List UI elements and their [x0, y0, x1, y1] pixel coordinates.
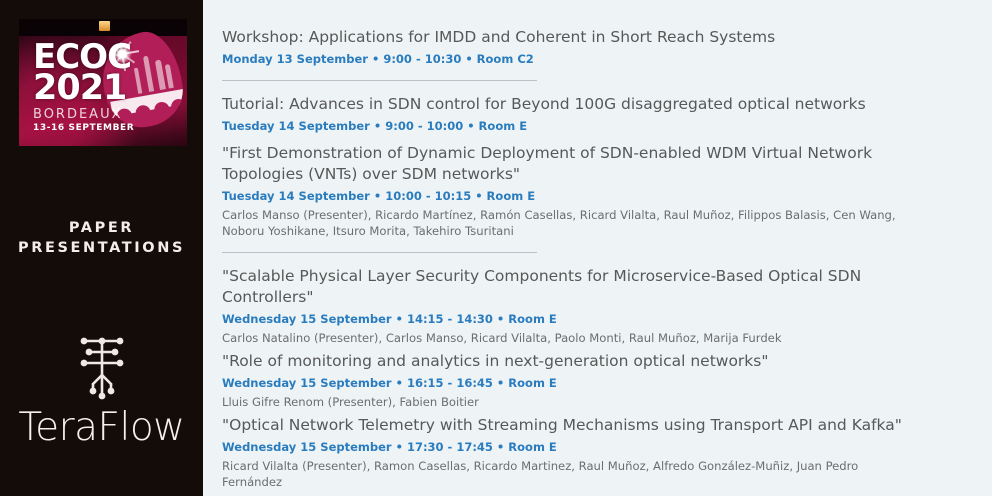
main-content: Workshop: Applications for IMDD and Cohe…: [203, 0, 992, 496]
entry-schedule: Tuesday 14 September • 10:00 - 10:15 • R…: [222, 188, 992, 204]
entry-schedule: Wednesday 15 September • 14:15 - 14:30 •…: [222, 311, 992, 327]
spire-shape: [155, 59, 166, 90]
entry-schedule: Wednesday 15 September • 17:30 - 17:45 •…: [222, 439, 992, 455]
sidebar: ECOC 2021 BORDEAUX 13-16 SEPTEMBER PAPER…: [0, 0, 203, 496]
teraflow-mark-icon: [65, 332, 139, 404]
sidebar-section-heading: PAPER PRESENTATIONS: [0, 218, 203, 258]
entry-schedule: Tuesday 14 September • 9:00 - 10:00 • Ro…: [222, 118, 992, 134]
ecoc-logo-line2: 2021: [33, 72, 134, 105]
entry-title: "Scalable Physical Layer Security Compon…: [222, 266, 922, 308]
entry-authors: Carlos Manso (Presenter), Ricardo Martín…: [222, 207, 922, 239]
entry-authors: Carlos Natalino (Presenter), Carlos Mans…: [222, 330, 922, 346]
presentation-entry: "Role of monitoring and analytics in nex…: [222, 351, 992, 410]
ecoc-logo-dates: 13-16 SEPTEMBER: [33, 123, 134, 133]
section-divider: [222, 80, 537, 81]
entry-title: Tutorial: Advances in SDN control for Be…: [222, 94, 922, 115]
entry-schedule: Monday 13 September • 9:00 - 10:30 • Roo…: [222, 51, 992, 67]
ecoc-logo-text: ECOC 2021 BORDEAUX 13-16 SEPTEMBER: [33, 42, 134, 133]
section-divider: [222, 252, 537, 253]
spire-shape: [134, 68, 142, 94]
presentation-entry: Workshop: Applications for IMDD and Cohe…: [222, 27, 992, 67]
spacer: [222, 134, 992, 143]
spire-shape: [143, 56, 154, 92]
logo-top-bar: [19, 19, 187, 36]
presentation-slide: ECOC 2021 BORDEAUX 13-16 SEPTEMBER PAPER…: [0, 0, 992, 496]
ecoc-logo-city: BORDEAUX: [33, 107, 134, 122]
entry-title: "Role of monitoring and analytics in nex…: [222, 351, 922, 372]
entry-schedule: Wednesday 15 September • 16:15 - 16:45 •…: [222, 375, 992, 391]
entry-title: "First Demonstration of Dynamic Deployme…: [222, 143, 922, 185]
entry-authors: Lluis Gifre Renom (Presenter), Fabien Bo…: [222, 394, 922, 410]
entry-title: Workshop: Applications for IMDD and Cohe…: [222, 27, 922, 48]
spire-shape: [165, 64, 174, 89]
ecoc-2021-logo: ECOC 2021 BORDEAUX 13-16 SEPTEMBER: [19, 19, 187, 146]
presentation-entry: "Optical Network Telemetry with Streamin…: [222, 415, 992, 490]
presentation-entry: "Scalable Physical Layer Security Compon…: [222, 266, 992, 346]
teraflow-logo: TeraFlow: [0, 332, 203, 450]
entry-title: "Optical Network Telemetry with Streamin…: [222, 415, 922, 436]
entry-authors: Ricard Vilalta (Presenter), Ramon Casell…: [222, 458, 922, 490]
sidebar-heading-line2: PRESENTATIONS: [0, 238, 203, 258]
teraflow-wordmark: TeraFlow: [0, 406, 203, 450]
presentation-entry: Tutorial: Advances in SDN control for Be…: [222, 94, 992, 134]
sidebar-heading-line1: PAPER: [0, 218, 203, 238]
lamp-icon: [99, 21, 110, 31]
presentation-entry: "First Demonstration of Dynamic Deployme…: [222, 143, 992, 239]
